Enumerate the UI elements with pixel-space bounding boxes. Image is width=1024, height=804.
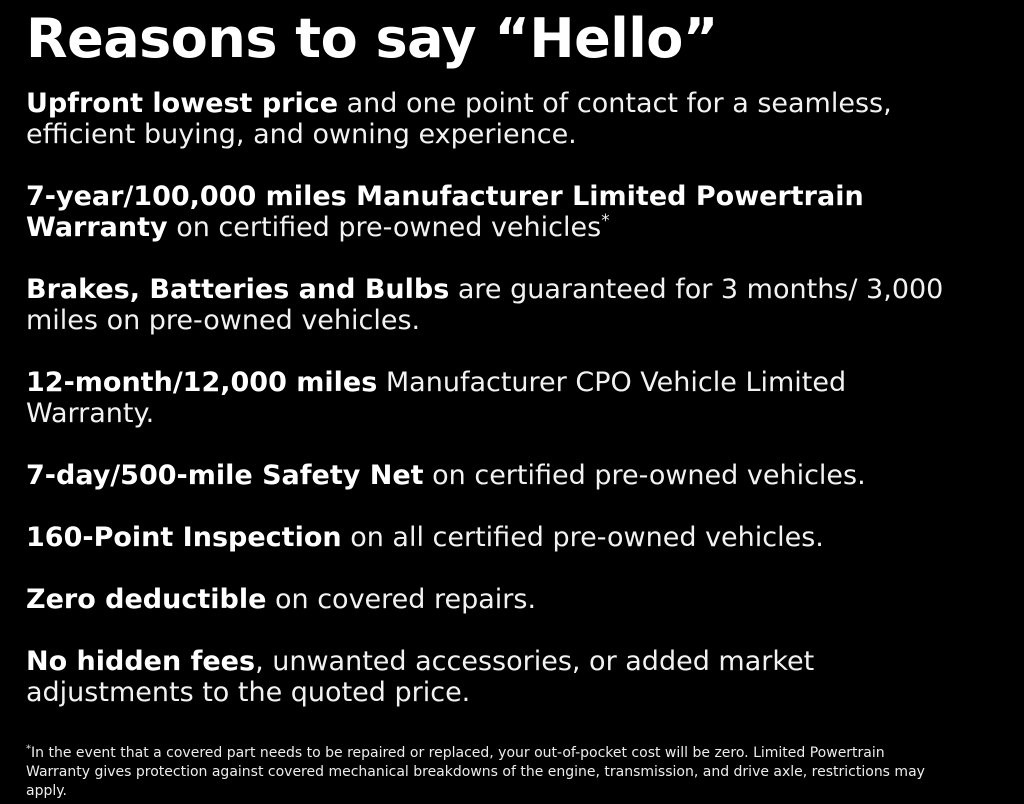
list-item: 12-month/12,000 miles Manufacturer CPO V…: [26, 367, 962, 429]
list-item-lead: Brakes, Batteries and Bulbs: [26, 274, 449, 305]
list-item-rest: on covered repairs.: [266, 584, 536, 615]
list-item-lead: 7-day/500-mile Safety Net: [26, 460, 424, 491]
list-item-lead: Upfront lowest price: [26, 88, 338, 119]
list-item: Upfront lowest price and one point of co…: [26, 88, 962, 150]
list-item: 7-year/100,000 miles Manufacturer Limite…: [26, 181, 962, 243]
list-item-rest: on all certified pre-owned vehicles.: [342, 522, 824, 553]
list-item-lead: Zero deductible: [26, 584, 266, 615]
list-item-rest: on certified pre-owned vehicles.: [424, 460, 866, 491]
slide-root: Reasons to say “Hello” Upfront lowest pr…: [0, 0, 1024, 804]
list-item-lead: 160-Point Inspection: [26, 522, 342, 553]
footnote-marker-icon: *: [601, 210, 609, 230]
list-item: Brakes, Batteries and Bulbs are guarante…: [26, 274, 962, 336]
list-item-rest: on certified pre-owned vehicles: [168, 212, 602, 243]
list-item: Zero deductible on covered repairs.: [26, 584, 962, 615]
list-item: 160-Point Inspection on all certified pr…: [26, 522, 962, 553]
list-item: 7-day/500-mile Safety Net on certified p…: [26, 460, 962, 491]
list-item: No hidden fees, unwanted accessories, or…: [26, 646, 962, 708]
page-title: Reasons to say “Hello”: [26, 0, 998, 66]
benefits-list: Upfront lowest price and one point of co…: [26, 88, 962, 708]
footnote: *In the event that a covered part needs …: [26, 744, 931, 801]
footnote-text: In the event that a covered part needs t…: [26, 745, 925, 799]
list-item-lead: No hidden fees: [26, 646, 255, 677]
list-item-lead: 12-month/12,000 miles: [26, 367, 377, 398]
